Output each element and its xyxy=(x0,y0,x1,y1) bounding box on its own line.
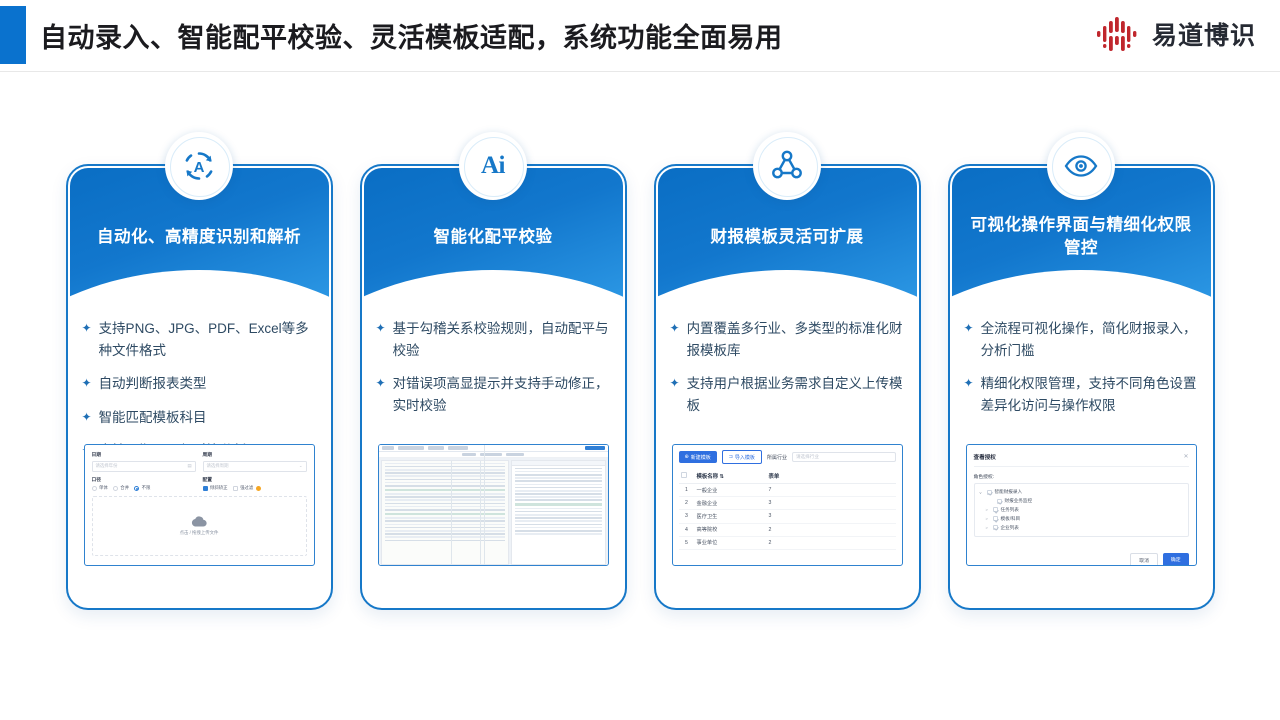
feature-card-permissions: 可视化操作界面与精细化权限管控 ✦ 全流程可视化操作，简化财报录入，分析门槛 ✦… xyxy=(948,132,1215,610)
industry-placeholder: 请选择行业 xyxy=(796,454,819,460)
column-header-name[interactable]: 模板名称 ⇅ xyxy=(695,469,767,484)
tree-node-label: 财报业务监控 xyxy=(1005,498,1033,504)
bullet-text: 自动判断报表类型 xyxy=(99,373,207,395)
checkbox-icon xyxy=(681,472,687,478)
share-nodes-icon xyxy=(753,132,821,200)
row-number: 4 xyxy=(679,523,695,536)
checkbox-checked-icon[interactable] xyxy=(987,490,992,495)
tree-node-label: 智能财报录入 xyxy=(995,489,1023,495)
list-item: ✦ 全流程可视化操作，简化财报录入，分析门槛 xyxy=(964,318,1201,361)
bullet-text: 对错误项高显提示并支持手动修正，实时校验 xyxy=(393,373,613,416)
header-accent-bar xyxy=(0,6,26,64)
row-forms-count[interactable]: 3 xyxy=(767,510,896,523)
row-forms-count[interactable]: 3 xyxy=(767,497,896,510)
row-number: 2 xyxy=(679,497,695,510)
table-header-row: 模板名称 ⇅ 表单 xyxy=(679,469,896,484)
thumb-toolbar xyxy=(379,445,608,452)
select-all-header[interactable] xyxy=(679,469,695,484)
bullet-text: 精细化权限管理，支持不同角色设置差异化访问与操作权限 xyxy=(981,373,1201,416)
tree-node[interactable]: 财报业务监控 xyxy=(980,497,1183,506)
card-screenshot-permission-dialog: 查看授权 ✕ 角色授权: v 智能财报录入 财报业务监控 xyxy=(966,444,1197,566)
tree-node-label: 模板/科目 xyxy=(1001,516,1021,522)
checkbox-checked-icon[interactable] xyxy=(993,507,998,512)
list-item: ✦ 支持PNG、JPG、PDF、Excel等多种文件格式 xyxy=(82,318,319,361)
template-table: 模板名称 ⇅ 表单 1 一般企业 7 2 金融企业 3 xyxy=(679,469,896,550)
date-placeholder: 请选择年份 xyxy=(96,463,118,469)
card-title: 自动化、高精度识别和解析 xyxy=(82,226,317,249)
extracted-table-pane xyxy=(511,460,606,565)
dialog-header: 查看授权 ✕ xyxy=(974,453,1189,467)
ai-icon: Ai xyxy=(459,132,527,200)
cloud-upload-icon xyxy=(191,516,207,527)
row-number: 3 xyxy=(679,510,695,523)
card-title: 可视化操作界面与精细化权限管控 xyxy=(964,214,1199,260)
import-template-button[interactable]: ⊐ 导入模板 xyxy=(722,450,762,464)
table-row[interactable]: 3 医疗卫生 3 xyxy=(679,510,896,523)
card-screenshot-upload-form: 日期 请选择年份 ▤ 周期 请选择周期 ⌄ xyxy=(84,444,315,566)
page-header: 自动录入、智能配平校验、灵活模板适配，系统功能全面易用 易道博识 xyxy=(0,0,1280,72)
bullet-diamond-icon: ✦ xyxy=(964,318,974,339)
card-title: 财报模板灵活可扩展 xyxy=(670,226,905,249)
plus-circle-icon: ⊕ xyxy=(685,454,689,460)
industry-label: 所属行业 xyxy=(767,454,787,461)
card-title: 智能化配平校验 xyxy=(376,226,611,249)
industry-select[interactable]: 请选择行业 xyxy=(792,452,896,462)
file-dropzone[interactable]: 点击 / 拖拽上传文件 xyxy=(92,496,307,556)
row-template-name: 高等院校 xyxy=(695,523,767,536)
feature-card-automation: 自动化、高精度识别和解析 A ✦ 支持PNG、JPG、PDF、Excel等多种文… xyxy=(66,132,333,610)
caliber-label: 口径 xyxy=(92,476,196,483)
column-label: 模板名称 xyxy=(697,474,719,480)
caliber-radio-any[interactable]: 不限 xyxy=(134,485,150,491)
calendar-icon: ▤ xyxy=(187,463,191,469)
row-forms-count[interactable]: 7 xyxy=(767,484,896,497)
brand-name: 易道博识 xyxy=(1152,16,1256,52)
document-preview-pane xyxy=(381,460,509,565)
radio-label: 不限 xyxy=(142,485,151,491)
button-label: 新建模板 xyxy=(691,454,711,461)
bullet-diamond-icon: ✦ xyxy=(82,373,92,394)
bullet-diamond-icon: ✦ xyxy=(964,373,974,394)
brand-logo: 易道博识 xyxy=(1096,14,1256,54)
period-label: 周期 xyxy=(203,451,307,458)
template-toolbar: ⊕ 新建模板 ⊐ 导入模板 所属行业 请选择行业 xyxy=(679,450,896,464)
eye-icon xyxy=(1047,132,1115,200)
row-template-name: 事业单位 xyxy=(695,536,767,549)
checkbox-checked-icon[interactable] xyxy=(993,525,998,530)
row-number: 1 xyxy=(679,484,695,497)
dialog-title: 查看授权 xyxy=(974,453,996,461)
bullet-diamond-icon: ✦ xyxy=(670,373,680,394)
period-placeholder: 请选择周期 xyxy=(207,463,229,469)
template-table-body: 1 一般企业 7 2 金融企业 3 3 医疗卫生 3 xyxy=(679,484,896,550)
cancel-button[interactable]: 取消 xyxy=(1130,553,1158,566)
list-item: ✦ 自动判断报表类型 xyxy=(82,373,319,395)
checkbox-checked-icon[interactable] xyxy=(997,499,1002,504)
bullet-diamond-icon: ✦ xyxy=(82,318,92,339)
button-label: 导入模板 xyxy=(735,454,755,461)
row-template-name: 医疗卫生 xyxy=(695,510,767,523)
chevron-right-icon[interactable]: > xyxy=(986,525,991,530)
dropzone-text: 点击 / 拖拽上传文件 xyxy=(180,530,219,536)
period-select[interactable]: 请选择周期 ⌄ xyxy=(203,461,307,472)
chevron-right-icon[interactable]: > xyxy=(986,516,991,521)
list-item: ✦ 支持用户根据业务需求自定义上传模板 xyxy=(670,373,907,416)
radio-label: 单体 xyxy=(99,485,108,491)
tree-node[interactable]: > 模板/科目 xyxy=(980,514,1183,523)
card-screenshot-template-table: ⊕ 新建模板 ⊐ 导入模板 所属行业 请选择行业 xyxy=(672,444,903,566)
checkbox-checked-icon xyxy=(203,486,208,491)
card-screenshot-split-compare xyxy=(378,444,609,566)
checkbox-label: 强过滤 xyxy=(240,485,253,491)
table-row[interactable]: 2 金融企业 3 xyxy=(679,497,896,510)
table-row[interactable]: 1 一般企业 7 xyxy=(679,484,896,497)
chevron-down-icon[interactable]: v xyxy=(980,490,985,495)
config-check-filter[interactable]: 强过滤 xyxy=(233,485,261,491)
date-input[interactable]: 请选择年份 ▤ xyxy=(92,461,196,472)
list-item: ✦ 智能匹配模板科目 xyxy=(82,407,319,429)
close-icon[interactable]: ✕ xyxy=(1183,454,1188,460)
bullet-diamond-icon: ✦ xyxy=(82,407,92,428)
bullet-text: 支持用户根据业务需求自定义上传模板 xyxy=(687,373,907,416)
new-template-button[interactable]: ⊕ 新建模板 xyxy=(679,451,717,463)
feature-card-templates: 财报模板灵活可扩展 ✦ 内置覆盖多行业、多类型的标准化财报模板库 ✦ 支持用户根… xyxy=(654,132,921,610)
bullet-text: 支持PNG、JPG、PDF、Excel等多种文件格式 xyxy=(99,318,319,361)
tree-node-label: 任务列表 xyxy=(1001,507,1019,513)
caliber-radio-merged[interactable]: 合并 xyxy=(113,485,129,491)
radio-label: 合并 xyxy=(120,485,129,491)
permission-tree: v 智能财报录入 财报业务监控 > 任务列表 xyxy=(974,483,1189,537)
card-bullet-list: ✦ 内置覆盖多行业、多类型的标准化财报模板库 ✦ 支持用户根据业务需求自定义上传… xyxy=(670,318,907,428)
row-number: 5 xyxy=(679,536,695,549)
bullet-diamond-icon: ✦ xyxy=(376,373,386,394)
page-title: 自动录入、智能配平校验、灵活模板适配，系统功能全面易用 xyxy=(40,16,783,55)
checkbox-label: 倾斜矫正 xyxy=(210,485,228,491)
tree-node-label: 企业列表 xyxy=(1001,525,1019,531)
list-item: ✦ 对错误项高显提示并支持手动修正，实时校验 xyxy=(376,373,613,416)
column-header-forms: 表单 xyxy=(767,469,896,484)
checkbox-icon xyxy=(233,486,238,491)
tree-node[interactable]: > 任务列表 xyxy=(980,506,1183,515)
row-template-name: 一般企业 xyxy=(695,484,767,497)
bullet-diamond-icon: ✦ xyxy=(670,318,680,339)
row-forms-count[interactable]: 2 xyxy=(767,523,896,536)
checkbox-checked-icon[interactable] xyxy=(993,516,998,521)
sort-icon: ⇅ xyxy=(720,474,725,480)
card-bullet-list: ✦ 基于勾稽关系校验规则，自动配平与校验 ✦ 对错误项高显提示并支持手动修正，实… xyxy=(376,318,613,428)
radio-icon xyxy=(113,486,118,491)
svg-text:A: A xyxy=(194,159,205,176)
bullet-diamond-icon: ✦ xyxy=(376,318,386,339)
tree-node[interactable]: > 企业列表 xyxy=(980,523,1183,532)
caliber-radio-single[interactable]: 单体 xyxy=(92,485,108,491)
auto-refresh-a-icon: A xyxy=(165,132,233,200)
table-row[interactable]: 4 高等院校 2 xyxy=(679,523,896,536)
import-icon: ⊐ xyxy=(729,454,733,460)
list-item: ✦ 基于勾稽关系校验规则，自动配平与校验 xyxy=(376,318,613,361)
table-row[interactable]: 5 事业单位 2 xyxy=(679,536,896,549)
bullet-text: 内置覆盖多行业、多类型的标准化财报模板库 xyxy=(687,318,907,361)
chevron-right-icon[interactable]: > xyxy=(986,507,991,512)
radio-icon xyxy=(92,486,97,491)
ai-glyph: Ai xyxy=(481,152,505,180)
list-item: ✦ 精细化权限管理，支持不同角色设置差异化访问与操作权限 xyxy=(964,373,1201,416)
row-forms-count[interactable]: 2 xyxy=(767,536,896,549)
help-warning-icon xyxy=(256,486,261,491)
date-label: 日期 xyxy=(92,451,196,458)
dialog-footer: 取消 确定 xyxy=(974,553,1189,566)
list-item: ✦ 内置覆盖多行业、多类型的标准化财报模板库 xyxy=(670,318,907,361)
bullet-text: 全流程可视化操作，简化财报录入，分析门槛 xyxy=(981,318,1201,361)
chevron-down-icon: ⌄ xyxy=(299,463,303,469)
card-bullet-list: ✦ 全流程可视化操作，简化财报录入，分析门槛 ✦ 精细化权限管理，支持不同角色设… xyxy=(964,318,1201,428)
feature-card-balance-check: 智能化配平校验 Ai ✦ 基于勾稽关系校验规则，自动配平与校验 ✦ 对错误项高显… xyxy=(360,132,627,610)
bullet-text: 智能匹配模板科目 xyxy=(99,407,207,429)
config-check-tilt[interactable]: 倾斜矫正 xyxy=(203,485,228,491)
waveform-logo-icon xyxy=(1096,14,1142,54)
config-label: 配置 xyxy=(203,476,307,483)
feature-cards-row: 自动化、高精度识别和解析 A ✦ 支持PNG、JPG、PDF、Excel等多种文… xyxy=(0,132,1280,612)
radio-selected-icon xyxy=(134,486,139,491)
row-template-name: 金融企业 xyxy=(695,497,767,510)
confirm-button[interactable]: 确定 xyxy=(1163,553,1189,566)
tree-node[interactable]: v 智能财报录入 xyxy=(980,488,1183,497)
bullet-text: 基于勾稽关系校验规则，自动配平与校验 xyxy=(393,318,613,361)
role-auth-label: 角色授权: xyxy=(974,473,1189,480)
